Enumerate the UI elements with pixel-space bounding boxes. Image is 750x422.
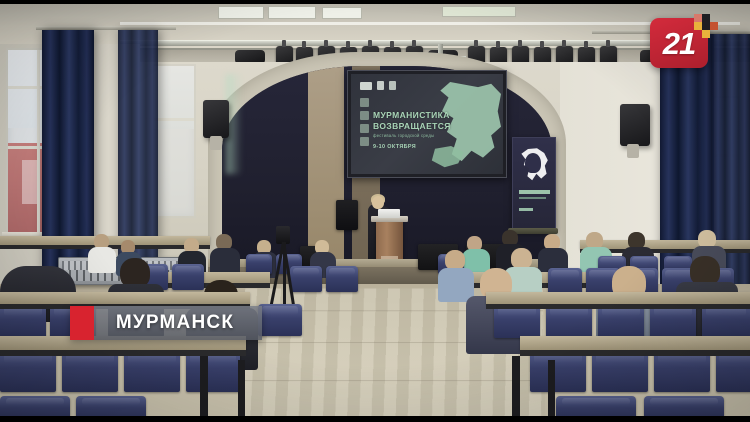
rollup-title-bar xyxy=(519,190,550,194)
ceiling-light-panel xyxy=(218,6,264,19)
banner-accent-block xyxy=(70,306,94,340)
seat xyxy=(0,304,46,338)
sponsor-logo-icon xyxy=(360,82,372,90)
logo-pixel xyxy=(702,22,710,30)
seat xyxy=(326,266,358,292)
screen-date: 9-10 ОКТЯБРЯ xyxy=(373,144,416,150)
screen-mark-icon xyxy=(360,98,369,107)
seat-leg xyxy=(200,356,208,416)
screen-mark-icon xyxy=(360,124,369,133)
person-head xyxy=(511,248,532,269)
seat xyxy=(258,304,302,336)
seat xyxy=(644,396,724,416)
wall-speaker-right xyxy=(620,104,650,146)
desk-edge xyxy=(486,304,750,309)
curtain-left xyxy=(42,30,94,292)
sponsor-logo-icon xyxy=(377,81,384,90)
seat xyxy=(556,396,636,416)
seat xyxy=(0,396,70,416)
banner-location-text: МУРМАНСК xyxy=(94,312,262,334)
seat-leg xyxy=(238,360,245,416)
logo-pixel xyxy=(702,14,710,22)
curtain-left-inner xyxy=(118,30,158,260)
projection-screen: МУРМАНИСТИКАВОЗВРАЩАЕТСЯ фестиваль город… xyxy=(347,70,507,178)
window-mullion xyxy=(37,50,40,236)
ceiling-light-panel xyxy=(268,6,316,19)
logo-pixel xyxy=(694,14,702,22)
window-left-secondary xyxy=(152,64,196,218)
channel-logo-text: 21 xyxy=(663,28,695,59)
sponsor-logo-icon xyxy=(389,81,396,90)
screen-title: МУРМАНИСТИКАВОЗВРАЩАЕТСЯ xyxy=(373,110,451,132)
logo-pixel xyxy=(710,22,718,30)
letterbox-top xyxy=(0,0,750,4)
rollup-banner xyxy=(512,137,556,231)
desk-row xyxy=(486,292,750,304)
desk-row xyxy=(0,292,250,304)
screen-subtitle: фестиваль городской среды xyxy=(373,133,434,138)
podium-monitor xyxy=(378,209,400,218)
desk-edge xyxy=(0,350,246,356)
stage-chair xyxy=(336,200,358,230)
desk-edge xyxy=(520,350,750,356)
ceiling-light-panel xyxy=(442,6,516,17)
seat-leg xyxy=(512,356,520,416)
seat xyxy=(290,266,322,292)
seat xyxy=(598,304,644,338)
location-banner: МУРМАНСК xyxy=(70,306,262,340)
desk-row xyxy=(520,336,750,350)
seat xyxy=(172,264,204,290)
screen-mark-icon xyxy=(360,111,369,120)
person-head xyxy=(445,250,465,270)
rollup-date-bar xyxy=(519,208,533,211)
screen-title-line2: ВОЗВРАЩАЕТСЯ xyxy=(373,121,451,131)
screen-side-marks xyxy=(360,98,369,146)
channel-logo-pixels xyxy=(694,14,718,38)
seat xyxy=(246,254,272,274)
broadcast-frame: МУРМАНИСТИКАВОЗВРАЩАЕТСЯ фестиваль город… xyxy=(0,0,750,422)
video-content: МУРМАНИСТИКАВОЗВРАЩАЕТСЯ фестиваль город… xyxy=(0,4,750,416)
screen-mark-icon xyxy=(360,137,369,146)
window-mullion xyxy=(154,118,194,121)
wall-speaker-left xyxy=(203,100,229,138)
logo-pixel xyxy=(694,22,702,30)
person-torso xyxy=(88,247,116,273)
seat xyxy=(76,396,146,416)
letterbox-bottom xyxy=(0,416,750,422)
desk-row xyxy=(150,272,270,283)
seat xyxy=(650,304,696,338)
ceiling-light-panel xyxy=(322,7,362,19)
whale-map-icon xyxy=(519,145,549,185)
seat xyxy=(702,304,750,338)
ceiling-strip xyxy=(120,22,740,25)
floor-seam xyxy=(243,380,544,381)
screen-sponsor-logos xyxy=(360,81,396,90)
seat xyxy=(546,304,592,338)
seat xyxy=(494,304,540,338)
stage-wall-panel xyxy=(308,66,344,268)
rollup-subtitle-bar xyxy=(519,197,546,199)
logo-pixel xyxy=(702,30,710,38)
screen-title-line1: МУРМАНИСТИКА xyxy=(373,110,450,120)
projection-screen-image: МУРМАНИСТИКАВОЗВРАЩАЕТСЯ фестиваль город… xyxy=(351,74,503,174)
seat-leg xyxy=(548,360,555,416)
